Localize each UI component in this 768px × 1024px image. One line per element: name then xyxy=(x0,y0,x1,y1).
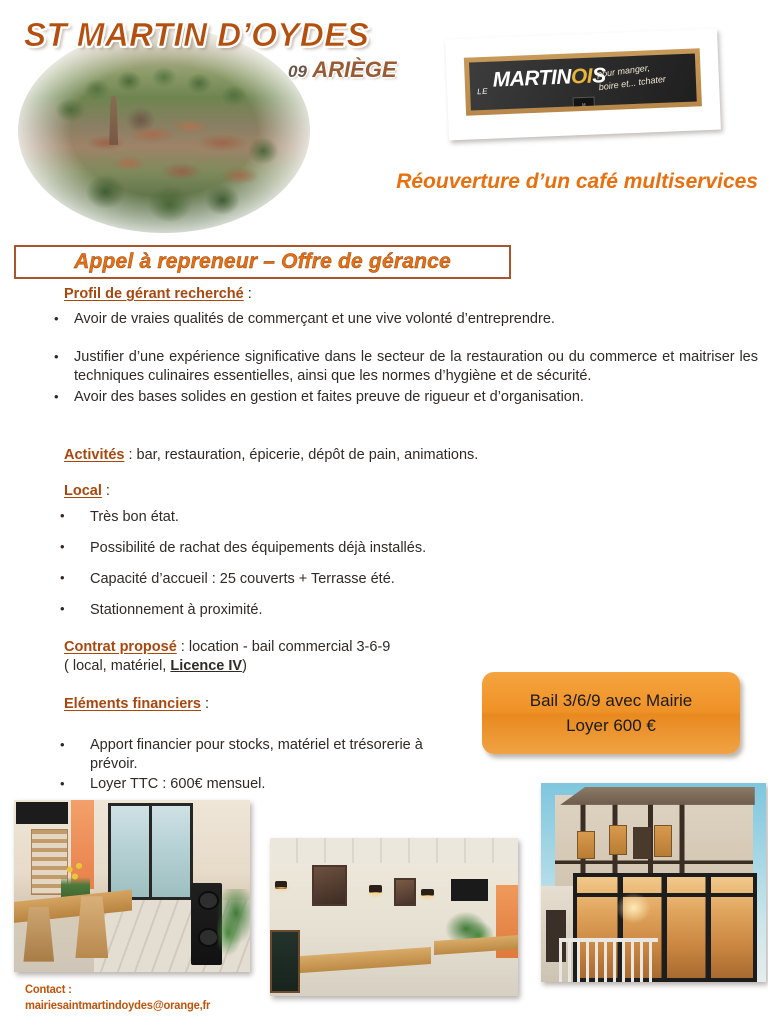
sign-brand-oi: OI xyxy=(571,65,593,89)
list-item: Justifier d’une expérience significative… xyxy=(48,348,758,386)
exterior-shutter xyxy=(577,831,595,859)
sign-brand-text: MARTINOIS xyxy=(492,64,606,93)
sign-le-text: LE xyxy=(477,87,488,96)
list-item: Loyer TTC : 600€ mensuel. xyxy=(48,775,448,794)
profil-bullet-list: Avoir de vraies qualités de commerçant e… xyxy=(48,310,758,409)
call-for-operator-title: Appel à repreneur – Offre de gérance xyxy=(74,250,451,274)
profil-heading-row: Profil de gérant recherché : xyxy=(64,286,252,302)
local-bullet-list: Très bon état. Possibilité de rachat des… xyxy=(48,509,568,633)
financiers-heading: Eléments financiers xyxy=(64,696,201,712)
interior2-tv-screen xyxy=(451,879,488,901)
sign-blackboard: LE MARTINOIS pour manger, boire et... tc… xyxy=(469,53,697,110)
interior2-chalkboard xyxy=(270,930,300,993)
sign-wood-frame: LE MARTINOIS pour manger, boire et... tc… xyxy=(464,48,702,115)
exterior-shutter xyxy=(609,825,627,855)
sign-plate-badge: M xyxy=(573,97,596,111)
financiers-bullet-list: Apport financier pour stocks, matériel e… xyxy=(48,736,448,795)
contrat-line2-suffix: ) xyxy=(242,658,247,674)
local-heading: Local xyxy=(64,483,102,499)
list-item: Apport financier pour stocks, matériel e… xyxy=(48,736,448,774)
list-item: Stationnement à proximité. xyxy=(48,602,568,618)
call-for-operator-box: Appel à repreneur – Offre de gérance xyxy=(14,245,511,279)
cafe-interior-tables-photo xyxy=(270,838,518,996)
exterior-shutter xyxy=(654,825,672,857)
page-title: ST MARTIN D’OYDES xyxy=(24,16,369,54)
profil-heading: Profil de gérant recherché xyxy=(64,286,244,302)
village-roofs-layer xyxy=(18,28,310,233)
interior2-wall-lamp xyxy=(369,885,381,893)
activites-colon: : xyxy=(124,447,136,463)
lease-callout-line1: Bail 3/6/9 avec Mairie xyxy=(530,688,693,713)
exterior-railing xyxy=(559,938,658,982)
interior1-plant xyxy=(217,889,250,968)
interior2-wall-art xyxy=(312,865,347,906)
activites-value: bar, restauration, épicerie, dépôt de pa… xyxy=(137,447,479,463)
profil-colon: : xyxy=(244,286,252,302)
contact-label: Contact : xyxy=(25,981,210,997)
list-item: Capacité d’accueil : 25 couverts + Terra… xyxy=(48,571,568,587)
local-heading-row: Local : xyxy=(64,483,110,499)
lease-callout-line2: Loyer 600 € xyxy=(566,713,656,738)
department-name: ARIÈGE xyxy=(312,57,396,82)
financiers-colon: : xyxy=(201,696,209,712)
interior1-tv-screen xyxy=(16,802,68,824)
cafe-interior-dining-room-photo xyxy=(14,800,250,972)
local-colon: : xyxy=(102,483,110,499)
list-item: Possibilité de rachat des équipements dé… xyxy=(48,540,568,556)
contrat-block: Contrat proposé : location - bail commer… xyxy=(64,638,444,676)
list-item: Avoir de vraies qualités de commerçant e… xyxy=(48,310,758,329)
contrat-colon: : xyxy=(177,639,189,655)
exterior-window xyxy=(633,827,651,859)
activites-heading: Activités xyxy=(64,447,124,463)
financiers-heading-row: Eléments financiers : xyxy=(64,696,209,712)
interior1-glass-door xyxy=(108,803,193,899)
contrat-line2-prefix: ( local, matériel, xyxy=(64,658,170,674)
licence-iv-label: Licence IV xyxy=(170,658,242,674)
contrat-text: location - bail commercial 3-6-9 xyxy=(189,639,390,655)
contact-block: Contact : mairiesaintmartindoydes@orange… xyxy=(25,981,210,1013)
village-aerial-photo xyxy=(18,28,310,233)
sign-tagline: pour manger, boire et... tchater xyxy=(596,60,666,94)
list-item: Avoir des bases solides en gestion et fa… xyxy=(48,388,758,407)
building-exterior-veranda-photo xyxy=(541,783,766,982)
headline-text: Réouverture d’un café multiservices xyxy=(306,170,758,194)
lease-callout-box: Bail 3/6/9 avec Mairie Loyer 600 € xyxy=(482,672,740,754)
cafe-sign-photo: LE MARTINOIS pour manger, boire et... tc… xyxy=(445,29,721,141)
list-item: Très bon état. xyxy=(48,509,568,525)
activites-row: Activités : bar, restauration, épicerie,… xyxy=(64,447,478,463)
department-number: 09 xyxy=(288,62,307,81)
interior2-wall-lamp xyxy=(421,889,433,897)
interior2-ceiling xyxy=(270,838,518,863)
interior2-chair xyxy=(270,838,297,873)
department-label: 09 ARIÈGE xyxy=(288,57,397,83)
contrat-heading: Contrat proposé xyxy=(64,639,177,655)
exterior-interior-glow xyxy=(609,886,659,930)
sign-brand-part1: MARTIN xyxy=(492,66,571,92)
contact-email[interactable]: mairiesaintmartindoydes@orange,fr xyxy=(25,997,210,1013)
interior2-chair xyxy=(270,873,297,905)
